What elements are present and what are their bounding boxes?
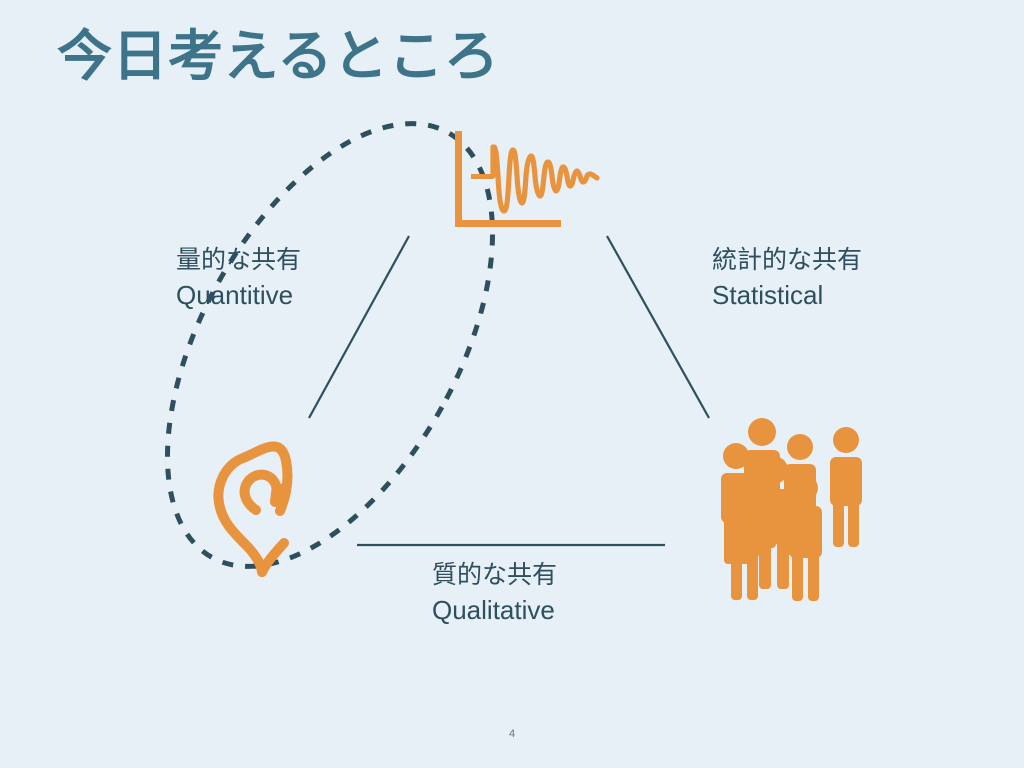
person-figure [830,427,862,547]
label-qualitative-en: Qualitative [432,593,557,629]
label-statistical-ja: 統計的な共有 [712,243,862,278]
page-title: 今日考えるところ [57,26,499,88]
ear-icon [218,447,287,572]
label-quantitive: 量的な共有 Quantitive [176,243,301,313]
label-quantitive-en: Quantitive [176,278,301,314]
label-qualitative: 質的な共有 Qualitative [432,558,557,628]
people-crowd-icon [721,418,862,601]
page-number: 4 [0,728,1024,740]
triangle-left-diagonal [309,236,409,418]
slide-canvas-root: 今日考えるところ 量的な共有 Quantitive 統計的な共有 Statist… [0,0,1024,768]
label-statistical-en: Statistical [712,278,862,314]
triangle-connector [309,236,709,545]
damped-oscillation-chart-icon [455,131,597,227]
person-figure [789,475,822,601]
label-qualitative-ja: 質的な共有 [432,558,557,593]
triangle-right-diagonal [607,236,709,418]
label-quantitive-ja: 量的な共有 [176,243,301,278]
label-statistical: 統計的な共有 Statistical [712,243,862,313]
slide-vector-layer [0,0,1024,768]
